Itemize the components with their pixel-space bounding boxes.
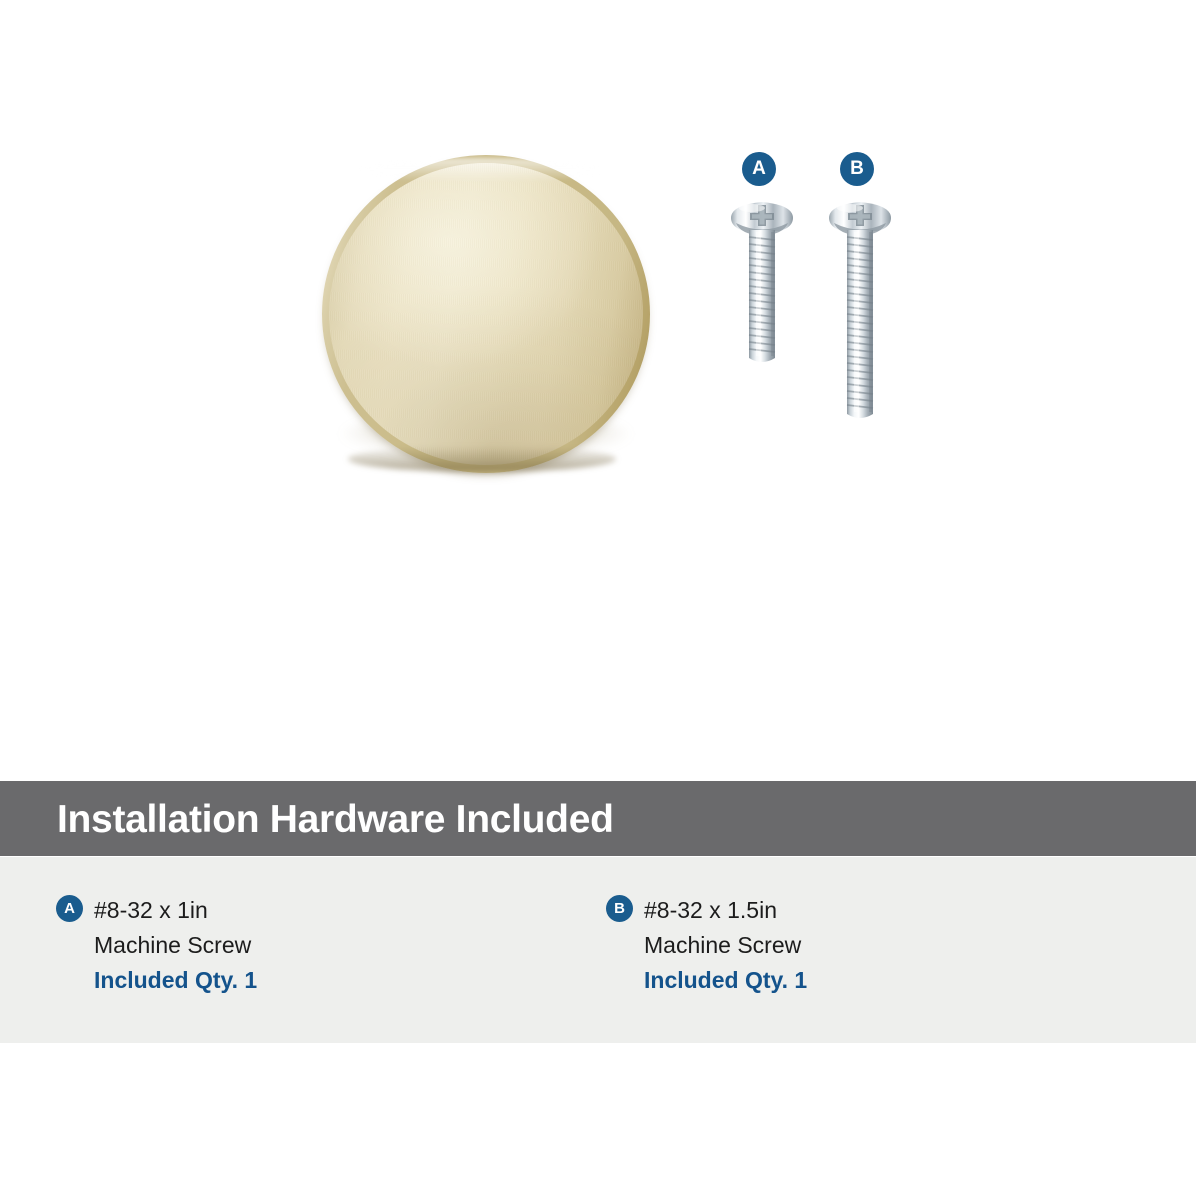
hardware-item-b-spec: #8-32 x 1.5in bbox=[644, 893, 1104, 928]
hardware-item-a-type: Machine Screw bbox=[94, 928, 554, 963]
screw-a-illustration bbox=[722, 196, 802, 368]
hardware-panel-header: Installation Hardware Included bbox=[0, 781, 1196, 856]
hardware-item-a-spec: #8-32 x 1in bbox=[94, 893, 554, 928]
installation-hardware-panel: Installation Hardware Included A #8-32 x… bbox=[0, 781, 1200, 1043]
hardware-item-a-qty: Included Qty. 1 bbox=[94, 963, 554, 998]
screw-b-illustration bbox=[820, 196, 900, 424]
knob-top-highlight bbox=[356, 158, 604, 182]
hardware-item-b-text: #8-32 x 1.5in Machine Screw Included Qty… bbox=[644, 893, 1104, 998]
hardware-item-b-type: Machine Screw bbox=[644, 928, 1104, 963]
callout-badge-b: B bbox=[840, 152, 874, 186]
hardware-panel-body: A #8-32 x 1in Machine Screw Included Qty… bbox=[0, 857, 1196, 1043]
hardware-badge-b: B bbox=[606, 895, 633, 922]
callout-badge-a: A bbox=[742, 152, 776, 186]
product-photo-area: A B bbox=[0, 0, 1200, 760]
hardware-item-a-text: #8-32 x 1in Machine Screw Included Qty. … bbox=[94, 893, 554, 998]
knob-bottom-shading bbox=[348, 446, 616, 472]
hardware-badge-a: A bbox=[56, 895, 83, 922]
product-image-canvas: A B bbox=[0, 0, 1200, 1200]
knob-brushed-texture bbox=[329, 163, 643, 465]
hardware-panel-title: Installation Hardware Included bbox=[57, 798, 614, 842]
hardware-item-b-qty: Included Qty. 1 bbox=[644, 963, 1104, 998]
cabinet-knob-product bbox=[322, 155, 650, 473]
